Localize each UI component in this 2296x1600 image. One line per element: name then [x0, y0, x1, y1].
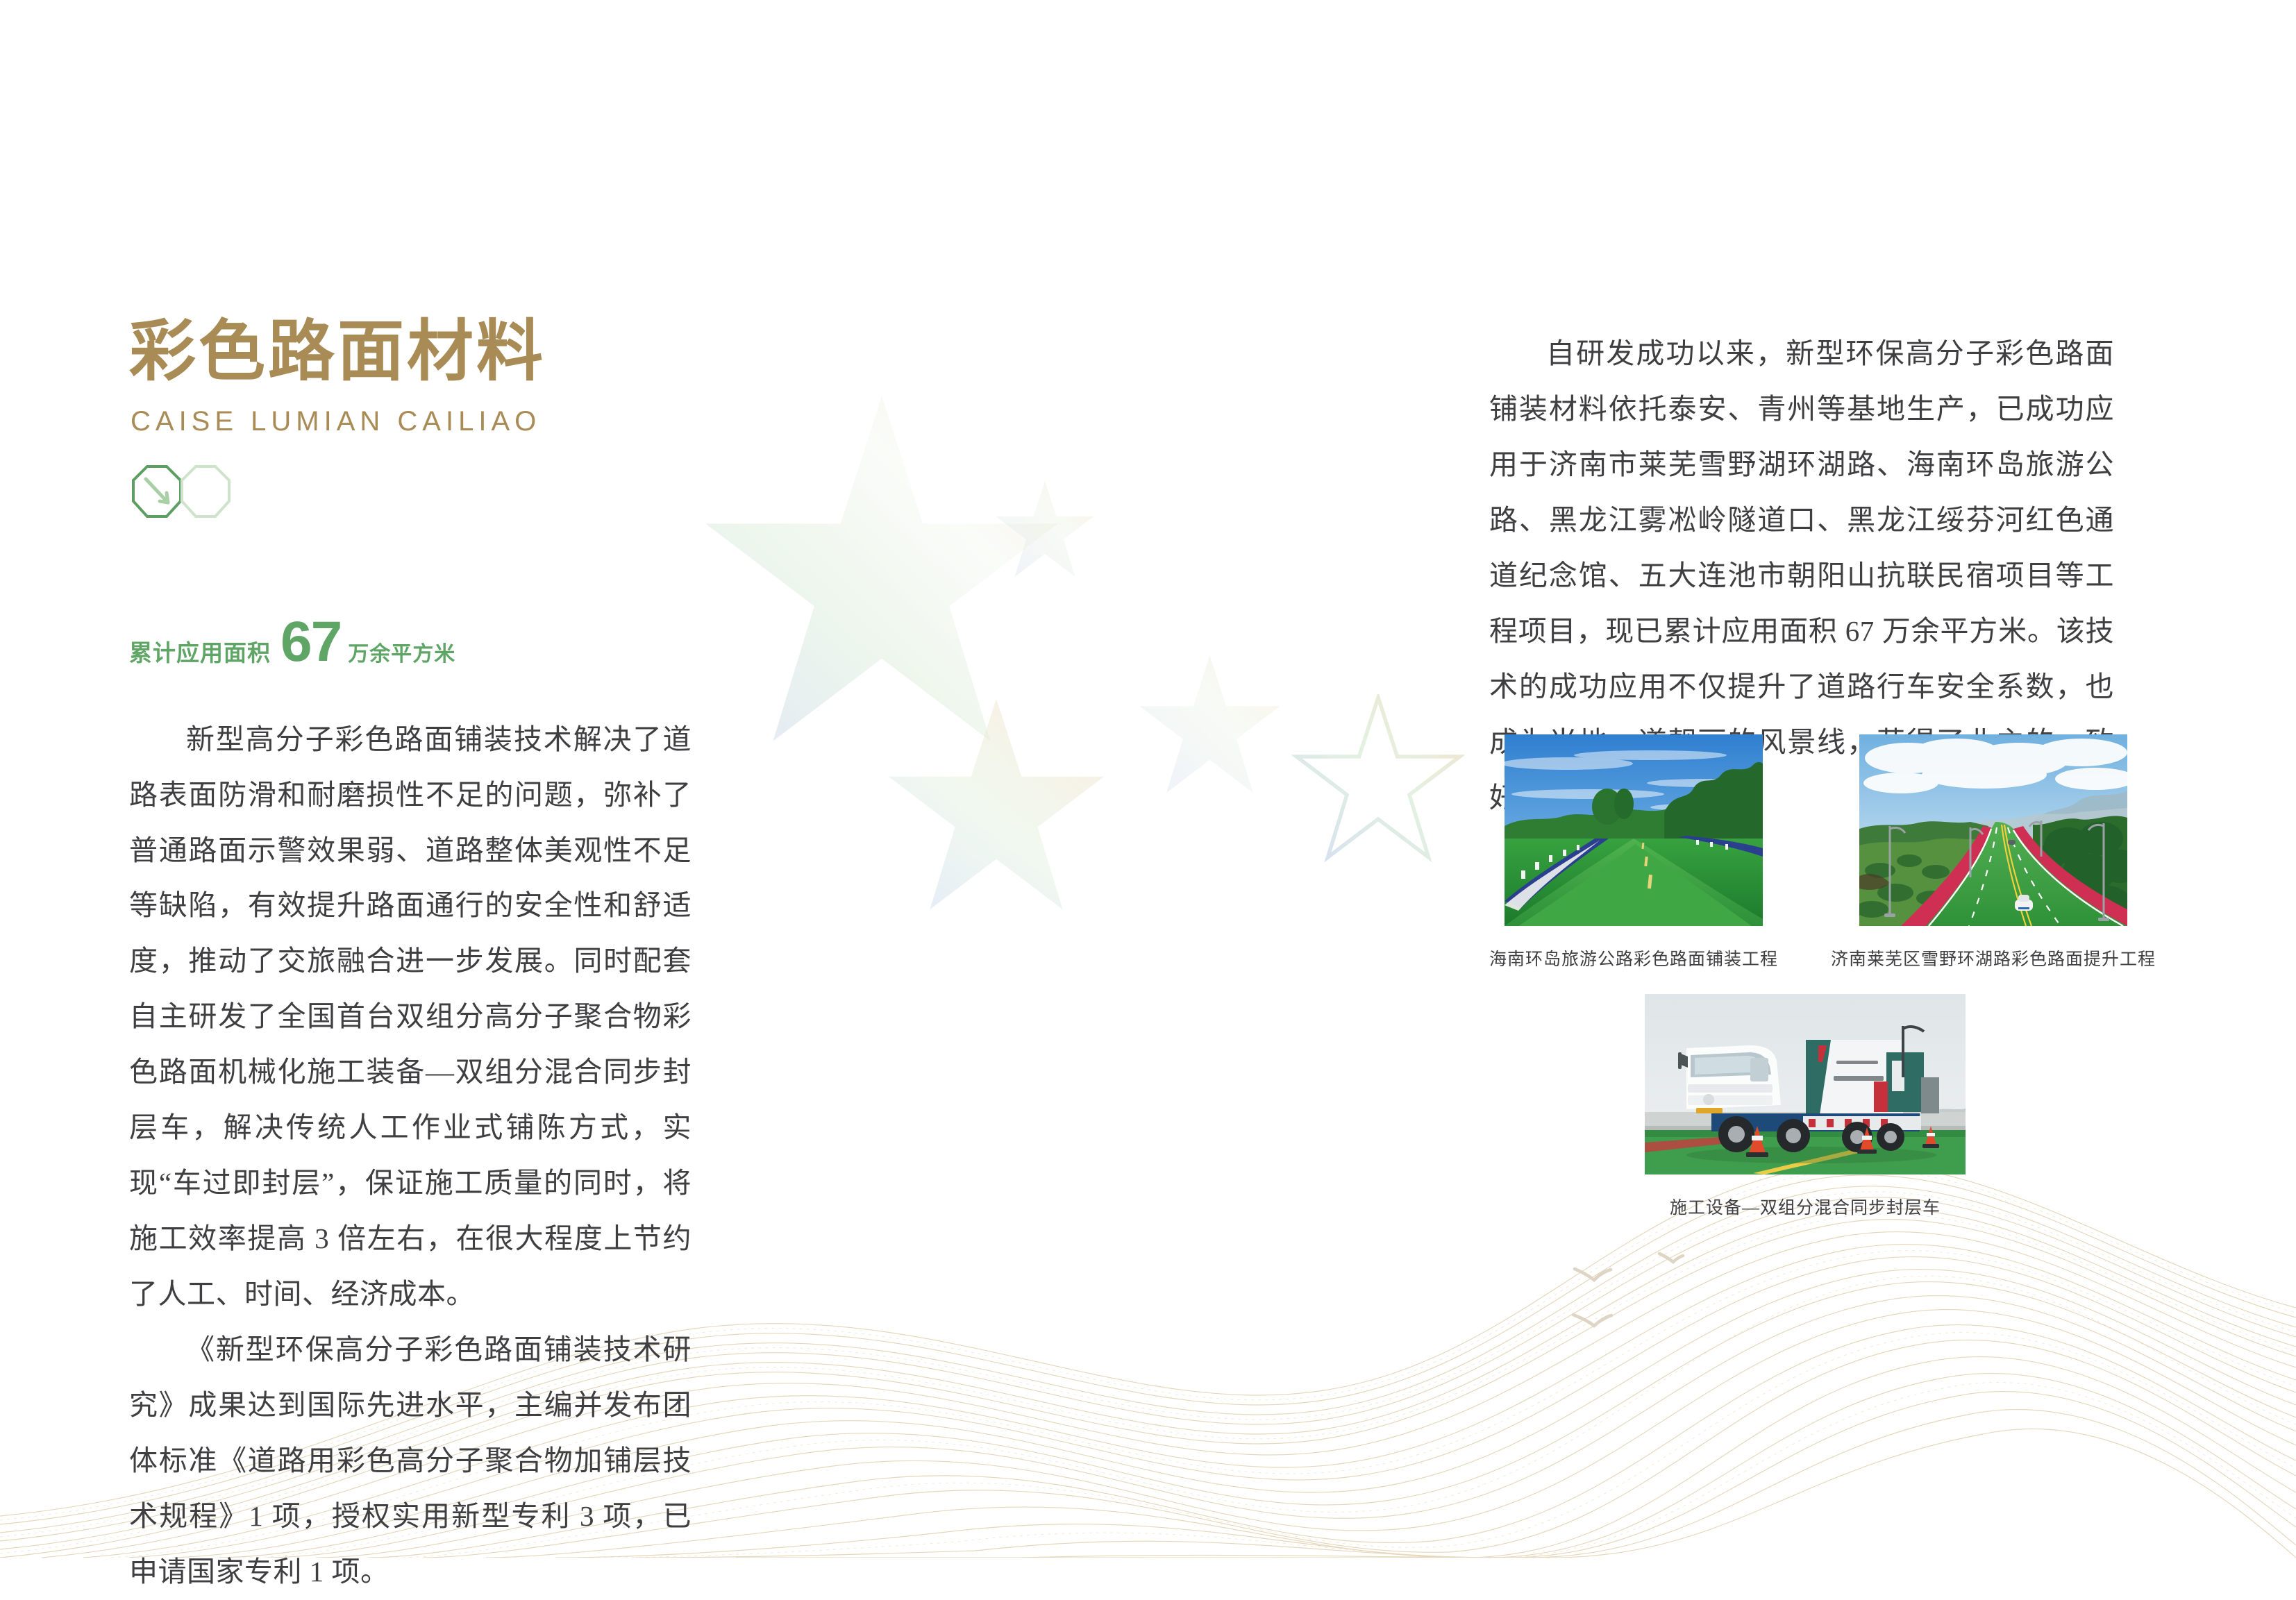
green-road-with-blue-bike-lanes-photo	[1505, 734, 1763, 926]
octagon-arrow-icon	[129, 458, 254, 528]
stat-value: 67	[280, 618, 341, 666]
page-content: 彩色路面材料 CAISE LUMIAN CAILIAO 累计应用面积 67 万余…	[0, 0, 2296, 1558]
figure-jinan-laiwu-road: 济南莱芜区雪野环湖路彩色路面提升工程	[1831, 734, 2156, 970]
stat-unit: 万余平方米	[348, 637, 455, 667]
figure-caption: 施工设备—双组分混合同步封层车	[1670, 1194, 1941, 1219]
left-paragraph-1: 新型高分子彩色路面铺装技术解决了道路表面防滑和耐磨损性不足的问题，弥补了普通路面…	[129, 712, 692, 1322]
stat-label: 累计应用面积	[129, 634, 271, 668]
white-sealing-truck-on-green-road-photo	[1645, 994, 1966, 1174]
figure-hainan-road: 海南环岛旅游公路彩色路面铺装工程	[1489, 734, 1778, 970]
left-body-text: 新型高分子彩色路面铺装技术解决了道路表面防滑和耐磨损性不足的问题，弥补了普通路面…	[129, 712, 692, 1600]
figure-caption: 济南莱芜区雪野环湖路彩色路面提升工程	[1831, 945, 2156, 970]
brochure-page: 彩色路面材料 CAISE LUMIAN CAILIAO 累计应用面积 67 万余…	[0, 0, 2296, 1558]
left-column: 彩色路面材料 CAISE LUMIAN CAILIAO 累计应用面积 67 万余…	[129, 316, 692, 1600]
page-subtitle-pinyin: CAISE LUMIAN CAILIAO	[131, 406, 692, 437]
page-title: 彩色路面材料	[129, 316, 692, 388]
aerial-green-road-with-red-shoulders-photo	[1859, 734, 2127, 926]
left-paragraph-2: 《新型环保高分子彩色路面铺装技术研究》成果达到国际先进水平，主编并发布团体标准《…	[129, 1322, 692, 1600]
figure-row-top: 海南环岛旅游公路彩色路面铺装工程	[1489, 734, 2121, 970]
figure-caption: 海南环岛旅游公路彩色路面铺装工程	[1489, 945, 1778, 970]
figure-sealing-truck: 施工设备—双组分混合同步封层车	[1645, 994, 1966, 1219]
figure-row-bottom: 施工设备—双组分混合同步封层车	[1489, 994, 2121, 1219]
cumulative-area-stat: 累计应用面积 67 万余平方米	[129, 618, 692, 668]
figure-gallery: 海南环岛旅游公路彩色路面铺装工程	[1489, 734, 2121, 1219]
